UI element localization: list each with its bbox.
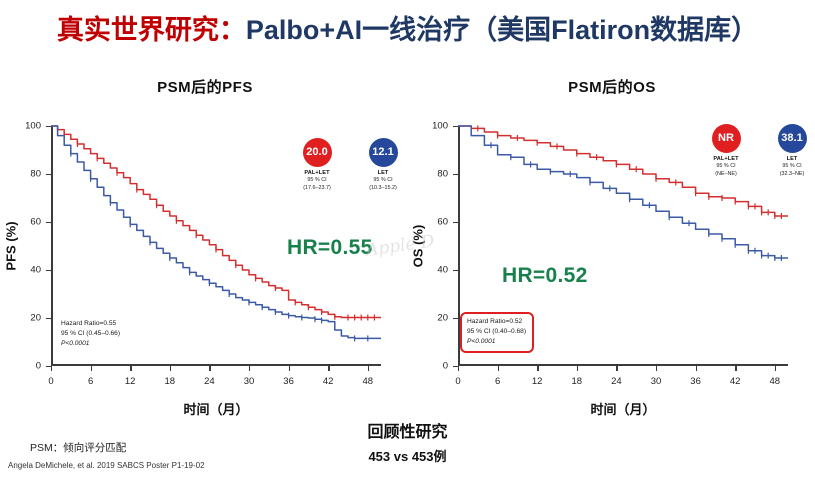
x-tick-label-pfs: 6: [88, 376, 93, 387]
x-tick-label-os: 24: [611, 376, 622, 387]
x-tick-os: [537, 366, 538, 371]
badge-ci-range: (17.6–23.7): [291, 185, 343, 193]
x-tick-pfs: [91, 366, 92, 371]
median-badge-let: 38.1LET95 % CI(32.3–NE): [766, 124, 815, 179]
y-tick-pfs: [46, 270, 51, 271]
median-badge-pal-let: 20.0PAL+LET95 % CI(17.6–23.7): [291, 138, 343, 193]
median-value-disc: 20.0: [303, 138, 332, 167]
chart-panel-os: PSM后的OS 时间（月） OS (%) 0612182430364248020…: [412, 76, 812, 406]
x-axis-title-pfs: 时间（月）: [51, 399, 381, 418]
y-tick-os: [453, 366, 458, 367]
x-tick-pfs: [170, 366, 171, 371]
median-badge-let: 12.1LET95 % CI(10.3–15.2): [357, 138, 409, 193]
x-tick-pfs: [368, 366, 369, 371]
x-axis-title-os: 时间（月）: [458, 399, 788, 418]
y-tick-os: [453, 270, 458, 271]
stats-hr-os: Hazard Ratio=0.52: [467, 317, 526, 327]
x-tick-os: [577, 366, 578, 371]
x-tick-pfs: [209, 366, 210, 371]
y-tick-pfs: [46, 222, 51, 223]
psm-definition-note: PSM：倾向评分匹配: [30, 440, 126, 455]
badge-arm-label: LET: [766, 155, 815, 163]
y-tick-os: [453, 318, 458, 319]
slide-root: 真实世界研究：Palbo+AI一线治疗（美国Flatiron数据库） PSM后的…: [0, 0, 815, 479]
y-tick-pfs: [46, 318, 51, 319]
chart-panel-pfs: PSM后的PFS 时间（月） PFS (%) 06121824303642480…: [5, 76, 405, 406]
x-tick-pfs: [328, 366, 329, 371]
x-tick-label-os: 48: [770, 376, 781, 387]
median-badge-pal-let: NRPAL+LET95 % CI(NE–NE): [700, 124, 752, 179]
x-tick-label-pfs: 36: [283, 376, 294, 387]
x-tick-pfs: [249, 366, 250, 371]
badge-ci-range: (32.3–NE): [766, 171, 815, 179]
chart-title-os: PSM后的OS: [412, 76, 812, 97]
y-tick-os: [453, 126, 458, 127]
x-tick-label-os: 30: [651, 376, 662, 387]
stats-p-os: P<0.0001: [467, 337, 526, 347]
y-tick-label-os: 40: [437, 265, 448, 276]
x-tick-os: [735, 366, 736, 371]
badge-ci-label: 95 % CI: [700, 163, 752, 171]
y-tick-label-pfs: 20: [30, 313, 41, 324]
badge-arm-label: PAL+LET: [291, 169, 343, 177]
x-tick-label-os: 6: [495, 376, 500, 387]
x-tick-label-os: 18: [572, 376, 583, 387]
y-tick-label-os: 100: [432, 121, 448, 132]
y-tick-label-os: 80: [437, 169, 448, 180]
y-tick-label-pfs: 0: [36, 361, 41, 372]
hr-label-os: HR=0.52: [502, 264, 588, 288]
badge-ci-range: (NE–NE): [700, 171, 752, 179]
badge-ci-label: 95 % CI: [766, 163, 815, 171]
title-navy-part: Palbo+AI一线治疗（美国Flatiron数据库）: [246, 15, 758, 45]
y-tick-label-pfs: 40: [30, 265, 41, 276]
badge-arm-label: PAL+LET: [700, 155, 752, 163]
y-tick-label-pfs: 80: [30, 169, 41, 180]
citation-text: Angela DeMichele, et al. 2019 SABCS Post…: [8, 461, 205, 470]
median-badges-os: NRPAL+LET95 % CI(NE–NE)38.1LET95 % CI(32…: [700, 124, 815, 179]
y-tick-pfs: [46, 126, 51, 127]
stats-hr-pfs: Hazard Ratio=0.55: [61, 319, 120, 329]
y-tick-label-os: 0: [443, 361, 448, 372]
retrospective-label: 回顾性研究: [0, 418, 815, 442]
stats-p-pfs: P<0.0001: [61, 339, 120, 349]
y-tick-pfs: [46, 174, 51, 175]
x-tick-os: [696, 366, 697, 371]
x-tick-label-pfs: 24: [204, 376, 215, 387]
median-badges-pfs: 20.0PAL+LET95 % CI(17.6–23.7)12.1LET95 %…: [291, 138, 409, 193]
stats-box-os: Hazard Ratio=0.52 95 % CI (0.40–0.68) P<…: [460, 312, 534, 353]
hr-label-pfs: HR=0.55: [287, 236, 373, 260]
x-tick-label-os: 36: [690, 376, 701, 387]
title-red-part: 真实世界研究：: [57, 15, 246, 45]
x-tick-os: [775, 366, 776, 371]
stats-ci-pfs: 95 % CI (0.45–0.66): [61, 329, 120, 339]
y-tick-label-pfs: 60: [30, 217, 41, 228]
x-tick-pfs: [289, 366, 290, 371]
x-tick-os: [458, 366, 459, 371]
x-tick-label-pfs: 42: [323, 376, 334, 387]
slide-title: 真实世界研究：Palbo+AI一线治疗（美国Flatiron数据库）: [0, 8, 815, 47]
median-value-disc: 38.1: [778, 124, 807, 153]
stats-ci-os: 95 % CI (0.40–0.68): [467, 327, 526, 337]
x-tick-label-os: 42: [730, 376, 741, 387]
badge-arm-label: LET: [357, 169, 409, 177]
badge-ci-label: 95 % CI: [291, 177, 343, 185]
median-value-disc: 12.1: [369, 138, 398, 167]
badge-ci-range: (10.3–15.2): [357, 185, 409, 193]
chart-title-pfs: PSM后的PFS: [5, 76, 405, 97]
y-tick-label-os: 20: [437, 313, 448, 324]
x-tick-pfs: [51, 366, 52, 371]
y-tick-label-os: 60: [437, 217, 448, 228]
y-axis-title-pfs: PFS (%): [4, 221, 19, 270]
x-tick-label-pfs: 0: [48, 376, 53, 387]
x-tick-pfs: [130, 366, 131, 371]
x-tick-label-pfs: 12: [125, 376, 136, 387]
median-value-disc: NR: [712, 124, 741, 153]
x-tick-label-os: 0: [455, 376, 460, 387]
x-tick-label-pfs: 48: [363, 376, 374, 387]
y-tick-label-pfs: 100: [25, 121, 41, 132]
stats-box-pfs: Hazard Ratio=0.55 95 % CI (0.45–0.66) P<…: [61, 319, 120, 350]
x-tick-label-pfs: 18: [165, 376, 176, 387]
x-tick-os: [498, 366, 499, 371]
badge-ci-label: 95 % CI: [357, 177, 409, 185]
x-tick-label-pfs: 30: [244, 376, 255, 387]
y-tick-os: [453, 222, 458, 223]
y-tick-pfs: [46, 366, 51, 367]
x-tick-os: [656, 366, 657, 371]
x-tick-os: [616, 366, 617, 371]
x-tick-label-os: 12: [532, 376, 543, 387]
y-tick-os: [453, 174, 458, 175]
